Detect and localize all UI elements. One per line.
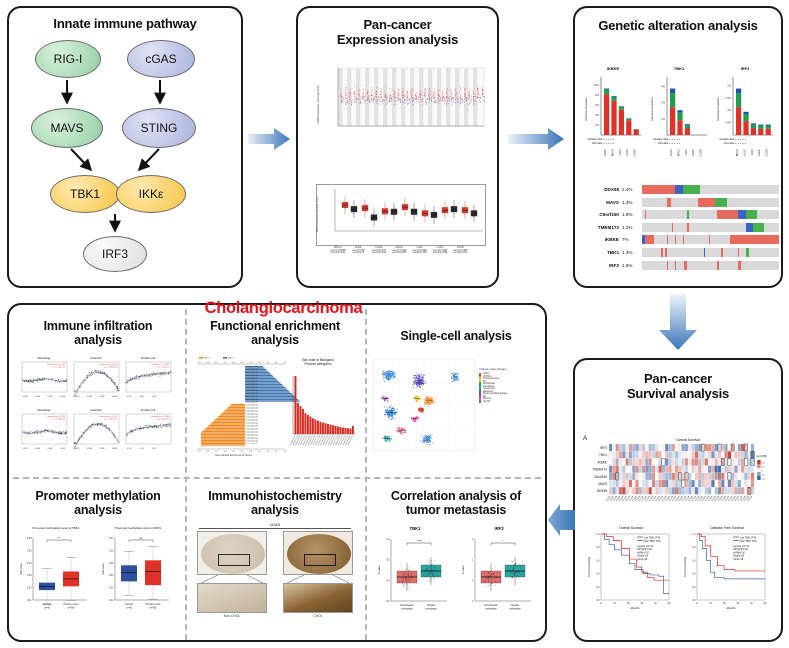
oncoprint-alteration (738, 261, 741, 270)
svg-text:-1: -1 (471, 600, 474, 603)
svg-text:LIHC: LIHC (618, 149, 622, 155)
oncoprint-row: MAVS1.3% (583, 197, 779, 208)
svg-text:0.035: 0.035 (22, 396, 28, 398)
arrow-expression-to-genetic (508, 126, 566, 152)
oncoprint-frequency: 1.3% (622, 200, 642, 205)
immune-scatter-plot: Macrophagepartial.cor = 0.311p = 1.08e-0… (19, 354, 69, 404)
oncoprint-track (642, 198, 779, 207)
svg-text:+ + + + +: + + + + + (735, 141, 747, 145)
immune-scatter-plot: Dendritic Cellpartial.cor = 0.345p = 1.1… (123, 406, 173, 456)
svg-text:0: 0 (472, 579, 474, 582)
svg-text:0.5: 0.5 (249, 362, 252, 364)
svg-text:4%: 4% (595, 113, 599, 117)
svg-text:0.56: 0.56 (139, 396, 144, 398)
svg-text:0.05: 0.05 (27, 550, 32, 552)
svg-text:0.075: 0.075 (74, 448, 80, 450)
oncoprint-frequency: 1.8% (622, 212, 642, 217)
oncoprint-alteration (687, 210, 688, 219)
svg-text:0: 0 (762, 470, 764, 472)
boxplot-xtick: COADnum(T)=275num(N)=349 (369, 247, 389, 255)
svg-text:0.4: 0.4 (596, 573, 600, 576)
oncoprint-alteration (746, 223, 753, 232)
oncoprint-gene: IRF3 (583, 263, 622, 268)
methylation-boxplot-0: Promoter methylation level of TBK10.010.… (17, 526, 95, 626)
svg-text:p = 1.08e-09: p = 1.08e-09 (53, 366, 66, 368)
boxplot-xtick: STADnum(T)=408num(N)=211 (450, 247, 470, 255)
oncoprint-alteration (645, 210, 646, 219)
ihc-cell: Immunohistochemistry analysis cGAS Non-C… (189, 485, 361, 640)
arrow-survival-to-bottom (548, 496, 576, 558)
boxplot-xtick: BRCAnum(T)=1085num(N)=291 (328, 247, 348, 255)
oncoprint-alteration (698, 198, 714, 207)
oncoprint-alteration (675, 235, 676, 244)
svg-text:metastasis: metastasis (401, 607, 413, 610)
svg-text:n(low)=18: n(low)=18 (637, 559, 648, 561)
oncoprint-alteration (738, 210, 746, 219)
svg-text:p = 1.68e-05: p = 1.68e-05 (105, 366, 118, 368)
svg-text:partial.cor = 0.311: partial.cor = 0.311 (48, 363, 66, 366)
svg-text:0.4: 0.4 (692, 573, 696, 576)
pancancer-expression-chart: *********** DDX58 Expression Level (log2… (316, 66, 486, 158)
oncoprint-alteration (746, 210, 757, 219)
svg-text:0.075: 0.075 (74, 396, 80, 398)
svg-text:COAD: COAD (633, 149, 637, 157)
svg-text:MAVS: MAVS (598, 482, 607, 486)
functional-enrichment-cell: Functional enrichment analysis GO term p… (189, 315, 361, 475)
svg-text:0.56: 0.56 (139, 448, 144, 450)
svg-text:50: 50 (668, 602, 671, 605)
oncoprint-track (642, 210, 779, 219)
correlation-cell: Correlation analysis of tumor metastasis… (367, 485, 545, 640)
svg-text:-2.0: -2.0 (206, 451, 209, 453)
svg-text:1%: 1% (661, 117, 665, 121)
svg-text:IRF3: IRF3 (600, 446, 607, 450)
svg-text:HR(high)=0.60: HR(high)=0.60 (637, 549, 653, 551)
svg-text:0.8: 0.8 (692, 546, 696, 549)
svg-text:0.02: 0.02 (109, 600, 114, 602)
svg-text:40: 40 (654, 602, 657, 605)
svg-text:*: * (502, 539, 504, 543)
svg-text:0.090: 0.090 (112, 396, 118, 398)
svg-text:partial.cor = 0.311: partial.cor = 0.311 (48, 415, 66, 418)
svg-text:Fibroblasts: Fibroblasts (382, 437, 392, 440)
oncoprint-frequency: 1.6% (622, 263, 642, 268)
svg-text:NES > 0: NES > 0 (228, 356, 234, 359)
functional-title: Functional enrichment analysis (189, 319, 361, 348)
svg-text:8%: 8% (595, 93, 599, 97)
svg-text:CHOL: CHOL (691, 148, 695, 156)
svg-text:0.54: 0.54 (127, 396, 132, 398)
svg-text:p = 1.15e-11: p = 1.15e-11 (157, 418, 170, 420)
svg-text:LUSC: LUSC (625, 149, 629, 156)
ihc-image-non-chol: Non-CHOL (197, 531, 267, 619)
oncoprint: DDX582.4%MAVS1.3%C6orf1501.8%TMEM1731.2%… (583, 184, 779, 278)
svg-text:Low TBK1 TPM: Low TBK1 TPM (740, 538, 756, 540)
oncoprint-alteration (717, 210, 738, 219)
expression-panel: Pan-cancer Expression analysis (296, 6, 499, 288)
svg-text:0.04: 0.04 (27, 563, 32, 565)
svg-text:10: 10 (709, 602, 712, 605)
svg-text:Macrophage: Macrophage (37, 409, 51, 412)
svg-text:Cholangiocytes: Cholangiocytes (384, 411, 398, 414)
svg-text:0.58: 0.58 (152, 396, 157, 398)
svg-text:1.5: 1.5 (266, 451, 269, 453)
arrow-pathway-to-expression (248, 126, 292, 152)
svg-text:Malignant: Malignant (381, 397, 390, 400)
svg-text:0.5: 0.5 (386, 558, 390, 561)
oncoprint-track (642, 235, 779, 244)
immune-scatter-plot: Neutrophilpartial.cor = 0.214p = 1.68e-0… (71, 354, 121, 404)
km-plot-1: Disease Free Survival0.00.20.40.60.81.00… (681, 526, 773, 630)
svg-text:0.02: 0.02 (27, 587, 32, 589)
svg-text:40: 40 (750, 602, 753, 605)
svg-text:0.05: 0.05 (109, 563, 114, 565)
svg-text:Alteration Frequency: Alteration Frequency (650, 96, 654, 121)
svg-text:1.0: 1.0 (692, 533, 696, 536)
svg-text:1%: 1% (727, 108, 731, 112)
svg-text:2%: 2% (727, 83, 731, 87)
svg-text:Monocyte: Monocyte (411, 417, 421, 420)
svg-text:0.2: 0.2 (596, 586, 600, 589)
svg-text:Beta value: Beta value (20, 562, 23, 574)
svg-text:p(HR)=0.20: p(HR)=0.20 (637, 552, 650, 554)
svg-text:1.0: 1.0 (386, 538, 390, 541)
svg-text:2.5: 2.5 (284, 451, 287, 453)
svg-text:partial.cor = 0.345: partial.cor = 0.345 (151, 415, 169, 418)
svg-text:Neutrophil: Neutrophil (91, 409, 102, 412)
svg-text:CNA data: CNA data (724, 142, 735, 145)
genetic-panel: Genetic alteration analysis IKBKE2%4%6%8… (573, 6, 783, 288)
svg-text:COAD: COAD (765, 149, 769, 157)
svg-text:LIHC: LIHC (684, 149, 688, 155)
svg-text:0.6: 0.6 (692, 559, 696, 562)
expression-ylabel: DDX58 Expression Level (log2 TPM) (317, 70, 320, 124)
svg-text:Dendritic Cell: Dendritic Cell (141, 409, 156, 412)
svg-text:Months: Months (726, 606, 736, 610)
svg-text:Mutation data: Mutation data (654, 138, 669, 141)
svg-text:3%: 3% (661, 84, 665, 88)
svg-text:2: 2 (472, 538, 474, 541)
svg-text:(n=9): (n=9) (126, 606, 132, 609)
bottom-divider-v1 (185, 309, 187, 640)
svg-text:-1.5: -1.5 (215, 362, 218, 364)
svg-text:n(low)=18: n(low)=18 (733, 559, 744, 561)
oncoprint-gene: C6orf150 (583, 212, 622, 217)
umap-legend: Celltype (major-lineage)CD8TCD8TexCholan… (479, 369, 507, 403)
umap-legend-item[interactable]: TprolH (479, 401, 507, 404)
correlation-title: Correlation analysis of tumor metastasis (367, 489, 545, 518)
oncoprint-track (642, 248, 779, 257)
svg-text:Months: Months (630, 606, 640, 610)
svg-text:LUSC: LUSC (669, 149, 673, 156)
oncoprint-frequency: 1.3% (622, 250, 642, 255)
svg-text:(n=9): (n=9) (44, 606, 50, 609)
svg-text:partial.cor = 0.345: partial.cor = 0.345 (151, 363, 169, 366)
svg-text:metastasis: metastasis (509, 607, 521, 610)
svg-text:Z-value: Z-value (461, 565, 465, 574)
ihc-label-chol: CHOL (283, 615, 353, 619)
oncoprint-alteration (642, 185, 675, 194)
alteration-bar-charts: IKBKE2%4%6%8%10%Alteration FrequencyMuta… (581, 66, 779, 176)
svg-text:COAD: COAD (699, 149, 703, 157)
oncoprint-alteration (715, 198, 727, 207)
oncoprint-row: IKBKE7% (583, 234, 779, 245)
alteration-bar-chart-tbk1: TBK11%2%3%Alteration FrequencyMutation d… (647, 66, 711, 176)
svg-text:BRCA: BRCA (735, 149, 739, 156)
svg-text:0.6: 0.6 (596, 559, 600, 562)
ihc-label-non-chol: Non-CHOL (197, 615, 267, 619)
correlation-boxplot-0: TBK1-0.50.00.51.0Non-HepaticmetastasisHe… (375, 526, 455, 630)
svg-text:n(high)=18: n(high)=18 (733, 556, 745, 558)
svg-text:CD8T: CD8T (418, 409, 424, 411)
svg-text:1.5%: 1.5% (725, 96, 732, 100)
oncoprint-alteration (746, 248, 749, 257)
svg-text:0.06: 0.06 (27, 538, 32, 540)
pathway-edges (9, 8, 245, 290)
svg-text:0.045: 0.045 (47, 396, 53, 398)
svg-text:0.045: 0.045 (47, 448, 53, 450)
svg-text:0.040: 0.040 (35, 396, 41, 398)
oncoprint-frequency: 7% (622, 237, 642, 242)
svg-text:****: **** (417, 539, 423, 543)
svg-text:0.035: 0.035 (22, 448, 28, 450)
singlecell-title: Single-cell analysis (367, 329, 545, 343)
svg-text:TMEM173: TMEM173 (592, 468, 607, 472)
oncoprint-alteration (675, 185, 683, 194)
oncoprint-frequency: 2.4% (622, 187, 642, 192)
oncoprint-alteration (717, 261, 718, 270)
svg-text:0.040: 0.040 (35, 448, 41, 450)
svg-text:Mutation data: Mutation data (720, 138, 735, 141)
svg-text:BRCA: BRCA (610, 149, 614, 156)
svg-text:20: 20 (723, 602, 726, 605)
immune-title: Immune infiltration analysis (13, 319, 183, 348)
svg-text:50: 50 (764, 602, 767, 605)
svg-text:Plasma: Plasma (414, 398, 422, 400)
oncoprint-alteration (675, 261, 676, 270)
oncoprint-alteration (704, 248, 705, 257)
svg-text:0.0: 0.0 (241, 362, 244, 364)
svg-text:2%: 2% (661, 101, 665, 105)
svg-text:TBK1: TBK1 (599, 453, 607, 457)
svg-text:0.5%: 0.5% (725, 121, 732, 125)
svg-text:1.0: 1.0 (258, 451, 261, 453)
svg-text:0.5: 0.5 (762, 466, 766, 468)
svg-text:0.085: 0.085 (99, 448, 105, 450)
svg-text:0.080: 0.080 (87, 396, 93, 398)
svg-text:HR(high)=0.62: HR(high)=0.62 (733, 549, 749, 551)
svg-text:30: 30 (640, 602, 643, 605)
survival-heatmap: Overall Survival IRF3TBK1IKBKETMEM173C6o… (587, 438, 775, 512)
svg-text:2.0: 2.0 (275, 362, 278, 364)
svg-text:0.03: 0.03 (109, 587, 114, 589)
km-plot-0: Overall Survival0.00.20.40.60.81.0010203… (585, 526, 677, 630)
ihc-image-chol: CHOL (283, 531, 353, 619)
svg-text:0.090: 0.090 (112, 448, 118, 450)
svg-text:0.04: 0.04 (109, 575, 114, 577)
svg-text:1.0: 1.0 (762, 462, 766, 464)
svg-text:p = 1.15e-11: p = 1.15e-11 (157, 366, 170, 368)
svg-text:+ + + + +: + + + + + (669, 141, 681, 145)
bottom-divider-h (13, 477, 541, 479)
immune-scatter-plot: Neutrophilpartial.cor = 0.214p = 1.68e-0… (71, 406, 121, 456)
svg-text:+ + + + +: + + + + + (603, 141, 615, 145)
genetic-title: Genetic alteration analysis (575, 19, 781, 34)
legend-swatch (479, 401, 481, 403)
svg-text:NES < 0: NES < 0 (204, 356, 210, 359)
svg-text:metastasis: metastasis (425, 607, 437, 610)
svg-text:Beta value: Beta value (102, 562, 105, 574)
svg-text:0.0: 0.0 (386, 579, 390, 582)
svg-text:Logrank p=0.30: Logrank p=0.30 (733, 545, 750, 548)
svg-text:-0.5: -0.5 (385, 600, 390, 603)
svg-text:Logrank p=0.19: Logrank p=0.19 (637, 545, 654, 548)
expression-boxplot-ylabel: DDX58 expression level (log2 TPM) (317, 188, 319, 232)
ihc-title: Immunohistochemistry analysis (189, 489, 361, 518)
correlation-boxplot-1: IRF3-1012Non-HepaticmetastasisHepaticmet… (459, 526, 539, 630)
svg-text:Percent survival: Percent survival (587, 557, 591, 577)
svg-text:-2.5: -2.5 (197, 362, 200, 364)
methylation-cell: Promoter methylation analysis Promoter m… (13, 485, 183, 640)
expression-boxplot-chart: DDX58 expression level (log2 TPM) (316, 184, 486, 246)
bp-chart-title: Bar chart of Biological Process categori… (285, 358, 351, 366)
oncoprint-track (642, 185, 779, 194)
svg-text:-2.5: -2.5 (197, 451, 200, 453)
svg-text:BRCA: BRCA (676, 149, 680, 156)
svg-text:metastasis: metastasis (485, 607, 497, 610)
svg-text:0.54: 0.54 (127, 448, 132, 450)
svg-text:ns: ns (139, 536, 143, 540)
alteration-bar-chart-irf3: IRF30.5%1%1.5%2%Alteration FrequencyMuta… (713, 66, 777, 176)
oncoprint-alteration (667, 198, 671, 207)
svg-text:-0.5: -0.5 (762, 474, 767, 476)
svg-text:0: 0 (600, 602, 602, 605)
svg-text:20: 20 (627, 602, 630, 605)
svg-text:partial.cor = 0.214: partial.cor = 0.214 (99, 363, 117, 366)
svg-text:High TBK1 TPM: High TBK1 TPM (740, 541, 757, 543)
svg-text:CD8Tex: CD8Tex (425, 400, 432, 402)
immune-scatter-plot: Macrophagepartial.cor = 0.311p = 1.08e-0… (19, 406, 69, 456)
svg-text:10: 10 (613, 602, 616, 605)
oncoprint-track (642, 223, 779, 232)
svg-text:0.085: 0.085 (99, 396, 105, 398)
oncoprint-alteration (683, 235, 684, 244)
svg-text:1.0: 1.0 (258, 362, 261, 364)
pathway-panel: Innate immune pathway RIG-I cGAS MAVS ST… (7, 6, 243, 288)
oncoprint-alteration (753, 223, 764, 232)
methylation-boxplot-1: Promoter methylation level of IRF30.020.… (99, 526, 177, 626)
svg-text:Z-value: Z-value (377, 565, 381, 574)
svg-text:0.58: 0.58 (152, 448, 157, 450)
svg-text:p(HR)=0.30: p(HR)=0.30 (733, 552, 746, 554)
boxplot-xtick: LIHCnum(T)=369num(N)=160 (410, 247, 430, 255)
svg-text:0.06: 0.06 (109, 550, 114, 552)
svg-text:30: 30 (736, 602, 739, 605)
svg-text:0.2: 0.2 (692, 586, 696, 589)
oncoprint-row: DDX582.4% (583, 184, 779, 195)
svg-text:CNA data: CNA data (592, 142, 603, 145)
methylation-title: Promoter methylation analysis (13, 489, 183, 518)
svg-text:1.0: 1.0 (596, 533, 600, 536)
oncoprint-alteration (645, 235, 655, 244)
svg-text:CHOL: CHOL (757, 148, 761, 156)
svg-text:p = 1.08e-09: p = 1.08e-09 (53, 418, 66, 420)
survival-km-plots: Overall Survival0.00.20.40.60.81.0010203… (585, 526, 777, 632)
arrow-genetic-to-survival (657, 294, 699, 352)
oncoprint-gene: MAVS (583, 200, 622, 205)
svg-text:2%: 2% (595, 123, 599, 127)
oncoprint-row: TBK11.3% (583, 247, 779, 258)
oncoprint-alteration (665, 248, 666, 257)
svg-text:-0.5: -0.5 (232, 362, 235, 364)
svg-text:LUSC: LUSC (742, 149, 746, 156)
svg-text:2.0: 2.0 (275, 451, 278, 453)
cholangiocarcinoma-label: Cholangiocarcinoma (186, 299, 381, 318)
oncoprint-alteration (738, 248, 739, 257)
oncoprint-alteration (661, 248, 662, 257)
svg-text:partial.cor = 0.214: partial.cor = 0.214 (99, 415, 117, 418)
oncoprint-gene: DDX58 (583, 187, 622, 192)
svg-text:(n=36): (n=36) (150, 606, 157, 609)
oncoprint-alteration (721, 248, 722, 257)
svg-text:Alteration Frequency: Alteration Frequency (716, 96, 720, 121)
svg-text:CNA data: CNA data (658, 142, 669, 145)
svg-text:Endothelial: Endothelial (396, 429, 406, 432)
svg-text:0.050: 0.050 (60, 396, 66, 398)
survival-title: Pan-cancer Survival analysis (575, 372, 781, 402)
svg-text:0.07: 0.07 (109, 538, 114, 540)
boxplot-xtick: ESCAnum(T)=182num(N)=286 (389, 247, 409, 255)
oncoprint-alteration (730, 235, 779, 244)
svg-text:0.03: 0.03 (27, 575, 32, 577)
svg-text:-1.0: -1.0 (762, 478, 767, 480)
oncoprint-frequency: 1.2% (622, 225, 642, 230)
svg-text:Percent survival: Percent survival (683, 557, 687, 577)
svg-text:log10(HR): log10(HR) (756, 455, 767, 458)
svg-text:IKBKE: IKBKE (598, 460, 607, 464)
svg-text:0.01: 0.01 (27, 600, 32, 602)
oncoprint-alteration (672, 223, 673, 232)
oncoprint-row: IRF31.6% (583, 260, 779, 271)
svg-text:p = 1.68e-05: p = 1.68e-05 (105, 418, 118, 420)
oncoprint-gene: TBK1 (583, 250, 622, 255)
oncoprint-gene: IKBKE (583, 237, 622, 242)
oncoprint-track (642, 261, 779, 270)
svg-text:Low TBK1 TPM: Low TBK1 TPM (644, 538, 660, 540)
oncoprint-alteration (683, 185, 699, 194)
immune-infiltration-cell: Immune infiltration analysis Macrophagep… (13, 315, 183, 475)
oncoprint-alteration (687, 223, 688, 232)
boxplot-xtick: LUSCnum(T)=486num(N)=338 (430, 247, 450, 255)
expression-boxplot-xlabels: BRCAnum(T)=1085num(N)=291CHOLnum(T)=36nu… (328, 247, 488, 271)
bottom-composite-panel: Immune infiltration analysis Macrophagep… (7, 303, 547, 642)
legend-label: TprolH (483, 401, 490, 404)
boxplot-xtick: CHOLnum(T)=36num(N)=9 (348, 247, 368, 255)
svg-text:1.5: 1.5 (266, 362, 269, 364)
svg-text:Alteration Frequency: Alteration Frequency (584, 96, 588, 121)
oncoprint-gene: TMEM173 (583, 225, 622, 230)
svg-text:High TBK1 TPM: High TBK1 TPM (644, 541, 661, 543)
oncoprint-alteration (667, 235, 668, 244)
svg-text:n(high)=18: n(high)=18 (637, 556, 649, 558)
svg-text:6%: 6% (595, 103, 599, 107)
legend-label: Monocyte/Macrophage (483, 393, 507, 396)
svg-text:Neutrophil: Neutrophil (91, 357, 102, 360)
svg-text:10%: 10% (594, 83, 600, 87)
svg-text:-2.0: -2.0 (206, 362, 209, 364)
svg-text:0.050: 0.050 (60, 448, 66, 450)
svg-text:1: 1 (472, 558, 474, 561)
